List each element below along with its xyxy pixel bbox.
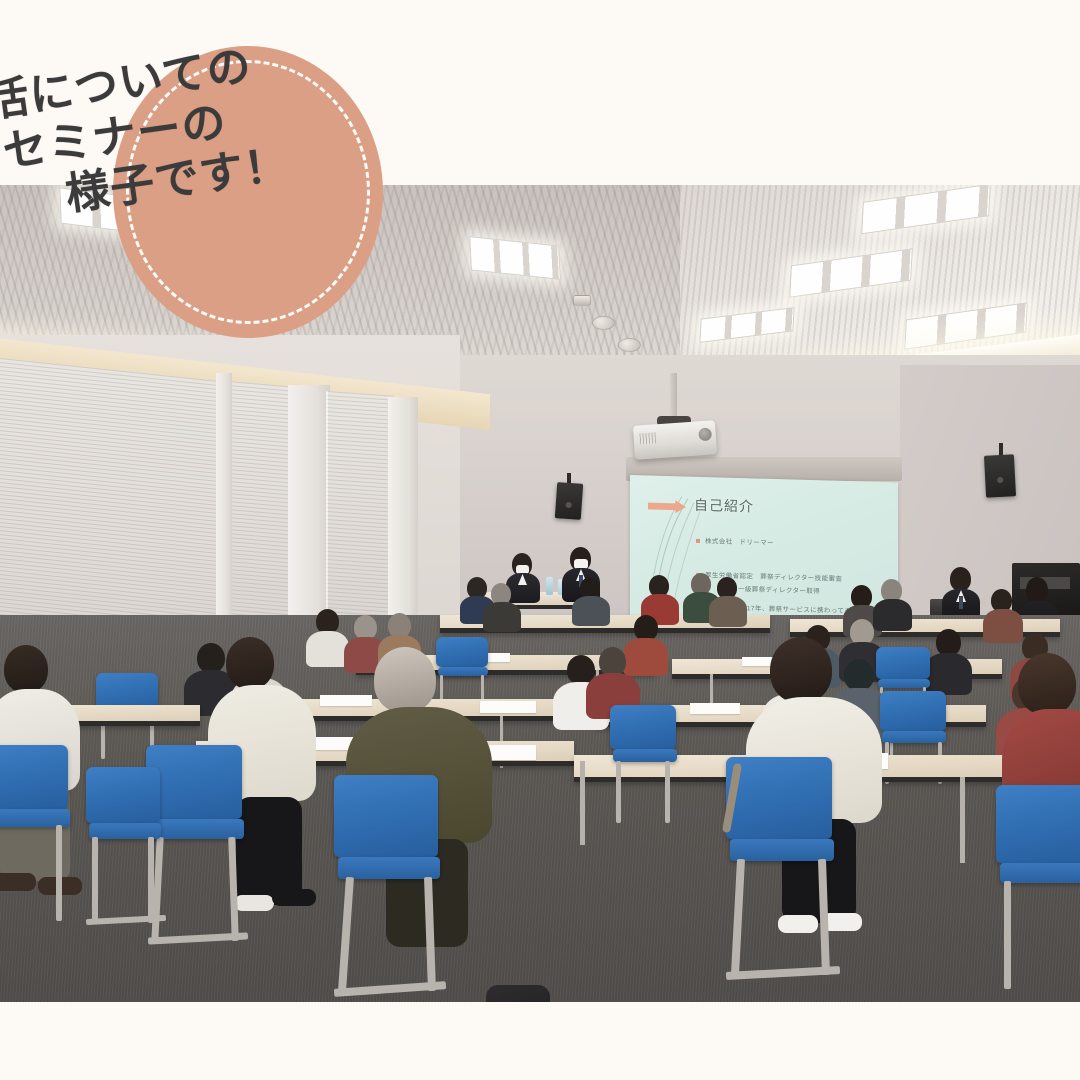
- attendee-head: [1018, 653, 1076, 715]
- slide-bullet: 一級葬祭ディレクター取得: [738, 583, 820, 595]
- wall-pillar: [388, 397, 418, 645]
- water-bottle: [546, 577, 553, 595]
- slide-title: 自己紹介: [694, 495, 754, 517]
- slide-bullet-text: 一級葬祭ディレクター取得: [738, 586, 820, 595]
- attendee-head: [844, 659, 874, 691]
- attendee-head: [197, 643, 225, 673]
- wall-speaker-left: [555, 482, 583, 520]
- attendee-head: [226, 637, 274, 689]
- window-blind[interactable]: [326, 391, 394, 648]
- window-blind[interactable]: [228, 381, 290, 654]
- attendee-head: [374, 647, 436, 713]
- wall-pillar: [216, 373, 232, 655]
- attendee-torso: [306, 631, 349, 667]
- slide-bullet: 株式会社 ドリーマー: [696, 535, 774, 547]
- staff-head: [950, 567, 971, 591]
- slide-bullet-text: 株式会社 ドリーマー: [705, 538, 774, 547]
- shoe: [234, 895, 274, 911]
- handout-paper: [320, 695, 372, 706]
- sprinkler-icon: [592, 316, 615, 330]
- necktie-icon: [959, 596, 963, 609]
- attendee-head: [599, 647, 626, 676]
- backpack: [486, 985, 550, 1002]
- attendee-torso: [983, 609, 1023, 643]
- projector-icon: [633, 420, 717, 460]
- attendee-head: [770, 637, 832, 703]
- sprinkler-icon: [618, 338, 641, 352]
- attendee-torso: [483, 602, 521, 632]
- page-root: 自己紹介 株式会社 ドリーマー 厚生労働省認定 葬祭ディレクター技能審査 一級葬…: [0, 0, 1080, 1080]
- attendee-torso: [623, 638, 668, 676]
- staff-head: [1026, 577, 1048, 603]
- shoe: [0, 873, 36, 891]
- shoe: [778, 915, 818, 933]
- handout-paper: [480, 701, 536, 713]
- seminar-room-photo: 自己紹介 株式会社 ドリーマー 厚生労働省認定 葬祭ディレクター技能審査 一級葬…: [0, 185, 1080, 1002]
- attendee-torso: [924, 653, 972, 695]
- table-leg: [960, 777, 965, 863]
- smoke-detector-icon: [573, 295, 591, 306]
- attendee-head: [4, 645, 48, 693]
- handout-paper: [690, 703, 740, 714]
- table-leg: [580, 761, 585, 845]
- projector-pole: [670, 373, 677, 419]
- slide-footnote: 約17年、葬祭サービスに携わってます: [740, 602, 858, 615]
- attendee-torso: [709, 596, 747, 627]
- attendee-head: [936, 629, 961, 656]
- attendee-torso: [873, 599, 912, 631]
- wall-speaker-right: [984, 454, 1016, 498]
- attendee-torso: [572, 596, 610, 626]
- shoe: [272, 889, 316, 906]
